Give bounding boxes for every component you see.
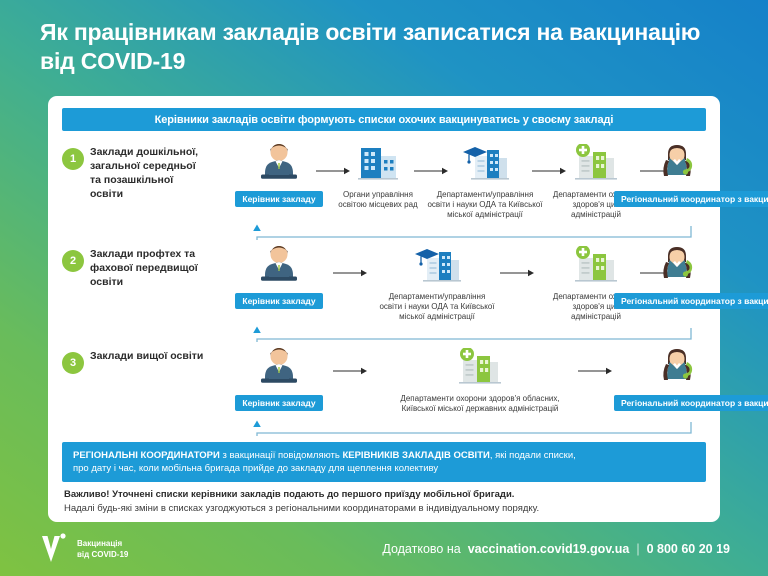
manager-laptop-icon xyxy=(256,348,302,388)
node-manager-row2[interactable]: Керівник закладу xyxy=(233,246,325,309)
flow-row-1: 1 Заклади дошкільної, загальної середньо… xyxy=(48,144,720,244)
badge-manager-row1: Керівник закладу xyxy=(235,191,322,207)
arrow-2-row3 xyxy=(578,366,614,376)
feedback-loop-row1 xyxy=(248,224,698,244)
feedback-loop-row2 xyxy=(248,326,698,346)
step-number-2: 2 xyxy=(62,250,84,272)
page-title: Як працівникам закладів освіти записатис… xyxy=(40,18,730,75)
node-local-education-authorities[interactable]: Органи управління освітою місцевих рад xyxy=(333,144,423,210)
badge-coordinator-row1: Регіональний координатор з вакцинації xyxy=(614,191,768,207)
node-coordinator-row2[interactable]: Регіональний координатор з вакцинації xyxy=(614,246,710,309)
arrow-2-row2 xyxy=(500,268,536,278)
coordinators-notice-line1: РЕГІОНАЛЬНІ КООРДИНАТОРИ з вакцинації по… xyxy=(73,449,695,462)
node-coordinator-row3[interactable]: Регіональний координатор з вакцинації xyxy=(614,348,710,411)
badge-coordinator-row2: Регіональний координатор з вакцинації xyxy=(614,293,768,309)
node-manager-row1[interactable]: Керівник закладу xyxy=(233,144,325,207)
footer-phone[interactable]: 0 800 60 20 19 xyxy=(647,542,730,556)
coordinators-notice-line2: про дату і час, коли мобільна бригада пр… xyxy=(73,462,695,475)
coordinators-notice-end: , які подали списки, xyxy=(490,450,576,461)
node-education-departments-row2[interactable]: Департаменти/управління освіти і науки О… xyxy=(378,246,496,322)
badge-manager-row3: Керівник закладу xyxy=(235,395,322,411)
arrow-1-row2 xyxy=(333,268,369,278)
node-coordinator-row1[interactable]: Регіональний координатор з вакцинації xyxy=(614,144,710,207)
brand-logo: Вакцинація від COVID-19 xyxy=(40,532,128,568)
footer-prefix: Додатково на xyxy=(382,542,460,556)
footer-website-link[interactable]: vaccination.covid19.gov.ua xyxy=(468,542,630,556)
footer-contact: Додатково на vaccination.covid19.gov.ua … xyxy=(382,542,730,556)
caption-health-departments-row3: Департаменти охорони здоров'я обласних, … xyxy=(396,394,564,414)
caption-local-education-authorities: Органи управління освітою місцевих рад xyxy=(333,190,423,210)
manager-laptop-icon xyxy=(256,144,302,184)
step-label-2: Заклади профтех та фахової передвищої ос… xyxy=(90,248,208,290)
brand-logo-text: Вакцинація від COVID-19 xyxy=(77,539,128,561)
coordinator-phone-icon xyxy=(654,348,700,388)
node-health-departments-row3[interactable]: Департаменти охорони здоров'я обласних, … xyxy=(396,348,564,414)
step-number-3: 3 xyxy=(62,352,84,374)
education-building-icon xyxy=(459,144,511,182)
important-note-line1: Важливо! Уточнені списки керівники закла… xyxy=(64,488,706,502)
caption-education-departments-row2: Департаменти/управління освіти і науки О… xyxy=(378,292,496,322)
office-building-icon xyxy=(356,144,400,182)
coordinators-notice-box: РЕГІОНАЛЬНІ КООРДИНАТОРИ з вакцинації по… xyxy=(62,442,706,482)
footer: Вакцинація від COVID-19 Додатково на vac… xyxy=(0,524,768,576)
step-label-3: Заклади вищої освіти xyxy=(90,350,208,364)
caption-education-departments-row1: Департаменти/управління освіти і науки О… xyxy=(426,190,544,220)
header-strip-label: Керівники закладів освіти формують списк… xyxy=(155,114,614,126)
coordinators-notice-strong-b: КЕРІВНИКІВ ЗАКЛАДІВ ОСВІТИ xyxy=(342,450,489,461)
coordinator-phone-icon xyxy=(654,144,700,184)
flow-row-2: 2 Заклади профтех та фахової передвищої … xyxy=(48,246,720,346)
step-label-1: Заклади дошкільної, загальної середньої … xyxy=(90,146,208,202)
footer-separator: | xyxy=(636,542,639,556)
important-note-line2: Надалі будь-які зміни в списках узгоджую… xyxy=(64,502,706,516)
health-building-icon xyxy=(455,348,505,386)
coordinators-notice-strong-a: РЕГІОНАЛЬНІ КООРДИНАТОРИ xyxy=(73,450,220,461)
badge-manager-row2: Керівник закладу xyxy=(235,293,322,309)
header-strip: Керівники закладів освіти формують списк… xyxy=(62,108,706,131)
brand-logo-line1: Вакцинація xyxy=(77,539,128,550)
vaccination-v-icon xyxy=(40,532,70,568)
arrow-1-row3 xyxy=(333,366,369,376)
node-education-departments-row1[interactable]: Департаменти/управління освіти і науки О… xyxy=(426,144,544,220)
step-number-1: 1 xyxy=(62,148,84,170)
manager-laptop-icon xyxy=(256,246,302,286)
education-building-icon xyxy=(411,246,463,284)
badge-coordinator-row3: Регіональний координатор з вакцинації xyxy=(614,395,768,411)
feedback-loop-row3 xyxy=(248,420,698,440)
node-manager-row3[interactable]: Керівник закладу xyxy=(233,348,325,411)
flow-row-3: 3 Заклади вищої освіти Керівник закладу xyxy=(48,348,720,440)
infographic-card: Керівники закладів освіти формують списк… xyxy=(48,96,720,522)
important-note: Важливо! Уточнені списки керівники закла… xyxy=(64,488,706,516)
brand-logo-line2: від COVID-19 xyxy=(77,550,128,561)
coordinator-phone-icon xyxy=(654,246,700,286)
coordinators-notice-mid: з вакцинації повідомляють xyxy=(220,450,343,461)
